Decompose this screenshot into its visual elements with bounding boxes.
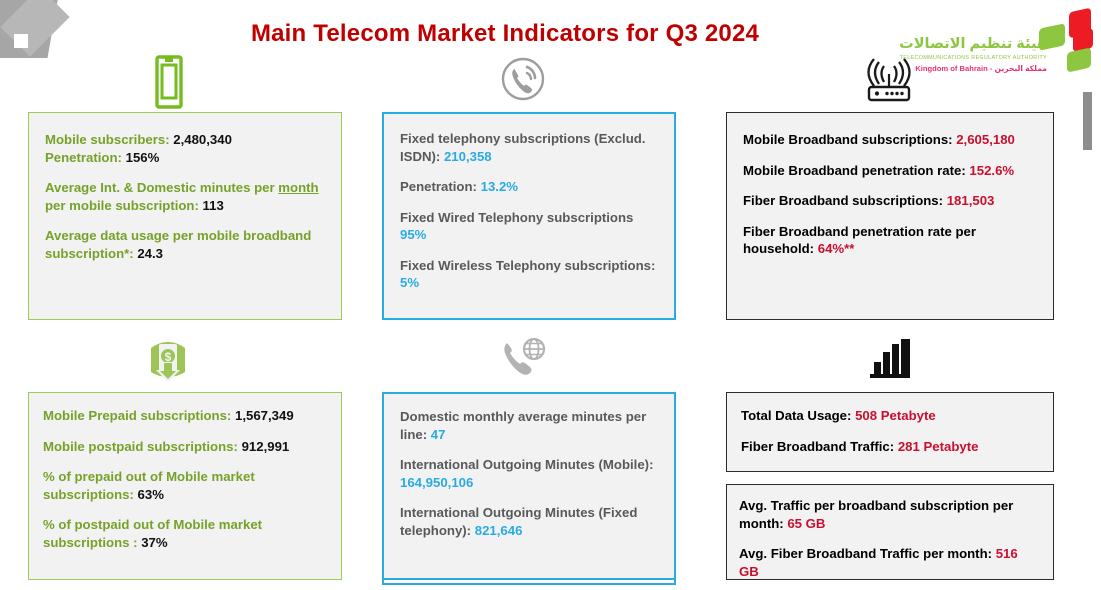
metric-label: Penetration: bbox=[400, 179, 481, 194]
card-line: Mobile postpaid subscriptions: 912,991 bbox=[43, 438, 325, 456]
card-prepaid-postpaid: Mobile Prepaid subscriptions: 1,567,349M… bbox=[28, 392, 342, 580]
metric-value: 37% bbox=[141, 535, 167, 550]
card-line: Average Int. & Domestic minutes per mont… bbox=[45, 179, 325, 214]
card-line: Avg. Traffic per broadband subscription … bbox=[739, 497, 1041, 532]
card-line: % of prepaid out of Mobile market subscr… bbox=[43, 468, 325, 503]
metric-label: Average Int. & Domestic minutes per bbox=[45, 180, 278, 195]
card-line: Mobile subscribers: 2,480,340Penetration… bbox=[45, 131, 325, 166]
card-line: International Outgoing Minutes (Mobile):… bbox=[400, 456, 658, 491]
card-line: Fiber Broadband subscriptions: 181,503 bbox=[743, 192, 1039, 210]
metric-label: Mobile Prepaid subscriptions: bbox=[43, 408, 235, 423]
metric-value: 13.2% bbox=[481, 179, 518, 194]
metric-label: Fiber Broadband Traffic: bbox=[741, 439, 898, 454]
card-line: Mobile Broadband penetration rate: 152.6… bbox=[743, 162, 1039, 180]
mobile-phone-icon bbox=[146, 54, 192, 115]
metric-label: Fiber Broadband penetration rate per hou… bbox=[743, 224, 976, 257]
metric-value: 508 Petabyte bbox=[855, 408, 936, 423]
metric-label: Fixed Wired Telephony subscriptions bbox=[400, 210, 633, 225]
metric-label: Mobile postpaid subscriptions: bbox=[43, 439, 242, 454]
metric-label: Fiber Broadband subscriptions: bbox=[743, 193, 947, 208]
card-line: International Outgoing Minutes (Fixed te… bbox=[400, 504, 658, 539]
tra-bahrain-logo: هيئة تنظيم الاتصالات TELECOMMUNICATIONS … bbox=[925, 8, 1095, 78]
metric-label: Average data usage per mobile broadband … bbox=[45, 228, 311, 261]
page-title: Main Telecom Market Indicators for Q3 20… bbox=[0, 20, 1010, 48]
bar-chart-icon bbox=[868, 338, 914, 389]
metric-value: 63% bbox=[138, 487, 164, 502]
logo-english-text: TELECOMMUNICATIONS REGULATORY AUTHORITY bbox=[900, 55, 1047, 61]
card-line: Mobile Broadband subscriptions: 2,605,18… bbox=[743, 131, 1039, 149]
metric-value: 912,991 bbox=[242, 439, 290, 454]
metric-label: Mobile Broadband subscriptions: bbox=[743, 132, 956, 147]
card-line: Fixed Wireless Telephony subscriptions: … bbox=[400, 257, 658, 292]
money-download-icon: $ bbox=[142, 334, 194, 391]
metric-label: Avg. Fiber Broadband Traffic per month: bbox=[739, 546, 996, 561]
metric-value: 5% bbox=[400, 275, 419, 290]
metric-value: 113 bbox=[203, 198, 224, 213]
metric-label: per mobile subscription: bbox=[45, 198, 203, 213]
metric-value: 47 bbox=[431, 427, 446, 442]
metric-label: Fixed Wireless Telephony subscriptions: bbox=[400, 258, 655, 273]
metric-label: month bbox=[278, 180, 318, 195]
svg-text:$: $ bbox=[165, 350, 172, 364]
card-mobile-broadband: Mobile Broadband subscriptions: 2,605,18… bbox=[726, 112, 1054, 320]
wifi-router-icon bbox=[860, 56, 918, 111]
metric-value: 65 GB bbox=[787, 516, 825, 531]
metric-value: 164,950,106 bbox=[400, 475, 473, 490]
metric-value: 152.6% bbox=[969, 163, 1014, 178]
metric-value: 64%** bbox=[818, 241, 855, 256]
decorative-bar-right bbox=[1083, 92, 1092, 150]
metric-value: 1,567,349 bbox=[235, 408, 294, 423]
card-line: Mobile Prepaid subscriptions: 1,567,349 bbox=[43, 407, 325, 425]
metric-value: 2,605,180 bbox=[956, 132, 1015, 147]
metric-value: 95% bbox=[400, 227, 426, 242]
metric-label: International Outgoing Minutes (Mobile): bbox=[400, 457, 653, 472]
card-line: Fixed Wired Telephony subscriptions 95% bbox=[400, 209, 658, 244]
metric-value: 2,480,340 bbox=[173, 132, 232, 147]
metric-label: Fixed telephony subscriptions (Exclud. I… bbox=[400, 131, 645, 164]
metric-value: 210,358 bbox=[444, 149, 492, 164]
metric-label: Total Data Usage: bbox=[741, 408, 855, 423]
metric-value: 181,503 bbox=[947, 193, 995, 208]
card-mobile-subscribers: Mobile subscribers: 2,480,340Penetration… bbox=[28, 112, 342, 320]
card-line: Total Data Usage: 508 Petabyte bbox=[741, 407, 1039, 425]
handset-globe-icon bbox=[498, 336, 550, 391]
metric-value: 281 Petabyte bbox=[898, 439, 979, 454]
metric-value: 821,646 bbox=[475, 523, 523, 538]
metric-value: 156% bbox=[126, 150, 160, 165]
logo-kingdom-text: Kingdom of Bahrain - مملكة البحرين bbox=[915, 64, 1047, 73]
card-line: Fixed telephony subscriptions (Exclud. I… bbox=[400, 130, 658, 165]
metric-label: Mobile subscribers: bbox=[45, 132, 173, 147]
decorative-bar-bottom bbox=[382, 578, 676, 585]
card-line: Penetration: 13.2% bbox=[400, 178, 658, 196]
card-line: Fiber Broadband penetration rate per hou… bbox=[743, 223, 1039, 258]
card-line: Average data usage per mobile broadband … bbox=[45, 227, 325, 262]
metric-label: Avg. Traffic per broadband subscription … bbox=[739, 498, 1013, 531]
card-data-usage: Total Data Usage: 508 PetabyteFiber Broa… bbox=[726, 392, 1054, 472]
metric-label: Mobile Broadband penetration rate: bbox=[743, 163, 969, 178]
card-line: % of postpaid out of Mobile market subsc… bbox=[43, 516, 325, 551]
card-line: Domestic monthly average minutes per lin… bbox=[400, 408, 658, 443]
card-avg-traffic: Avg. Traffic per broadband subscription … bbox=[726, 484, 1054, 580]
metric-value: 24.3 bbox=[137, 246, 163, 261]
card-fixed-telephony: Fixed telephony subscriptions (Exclud. I… bbox=[382, 112, 676, 320]
card-minutes: Domestic monthly average minutes per lin… bbox=[382, 392, 676, 580]
logo-arabic-text: هيئة تنظيم الاتصالات bbox=[899, 36, 1047, 52]
phone-circle-icon bbox=[500, 54, 548, 111]
card-line: Fiber Broadband Traffic: 281 Petabyte bbox=[741, 438, 1039, 456]
metric-label: Penetration: bbox=[45, 150, 126, 165]
logo-square-green-bottom bbox=[1067, 47, 1091, 72]
card-line: Avg. Fiber Broadband Traffic per month: … bbox=[739, 545, 1041, 580]
